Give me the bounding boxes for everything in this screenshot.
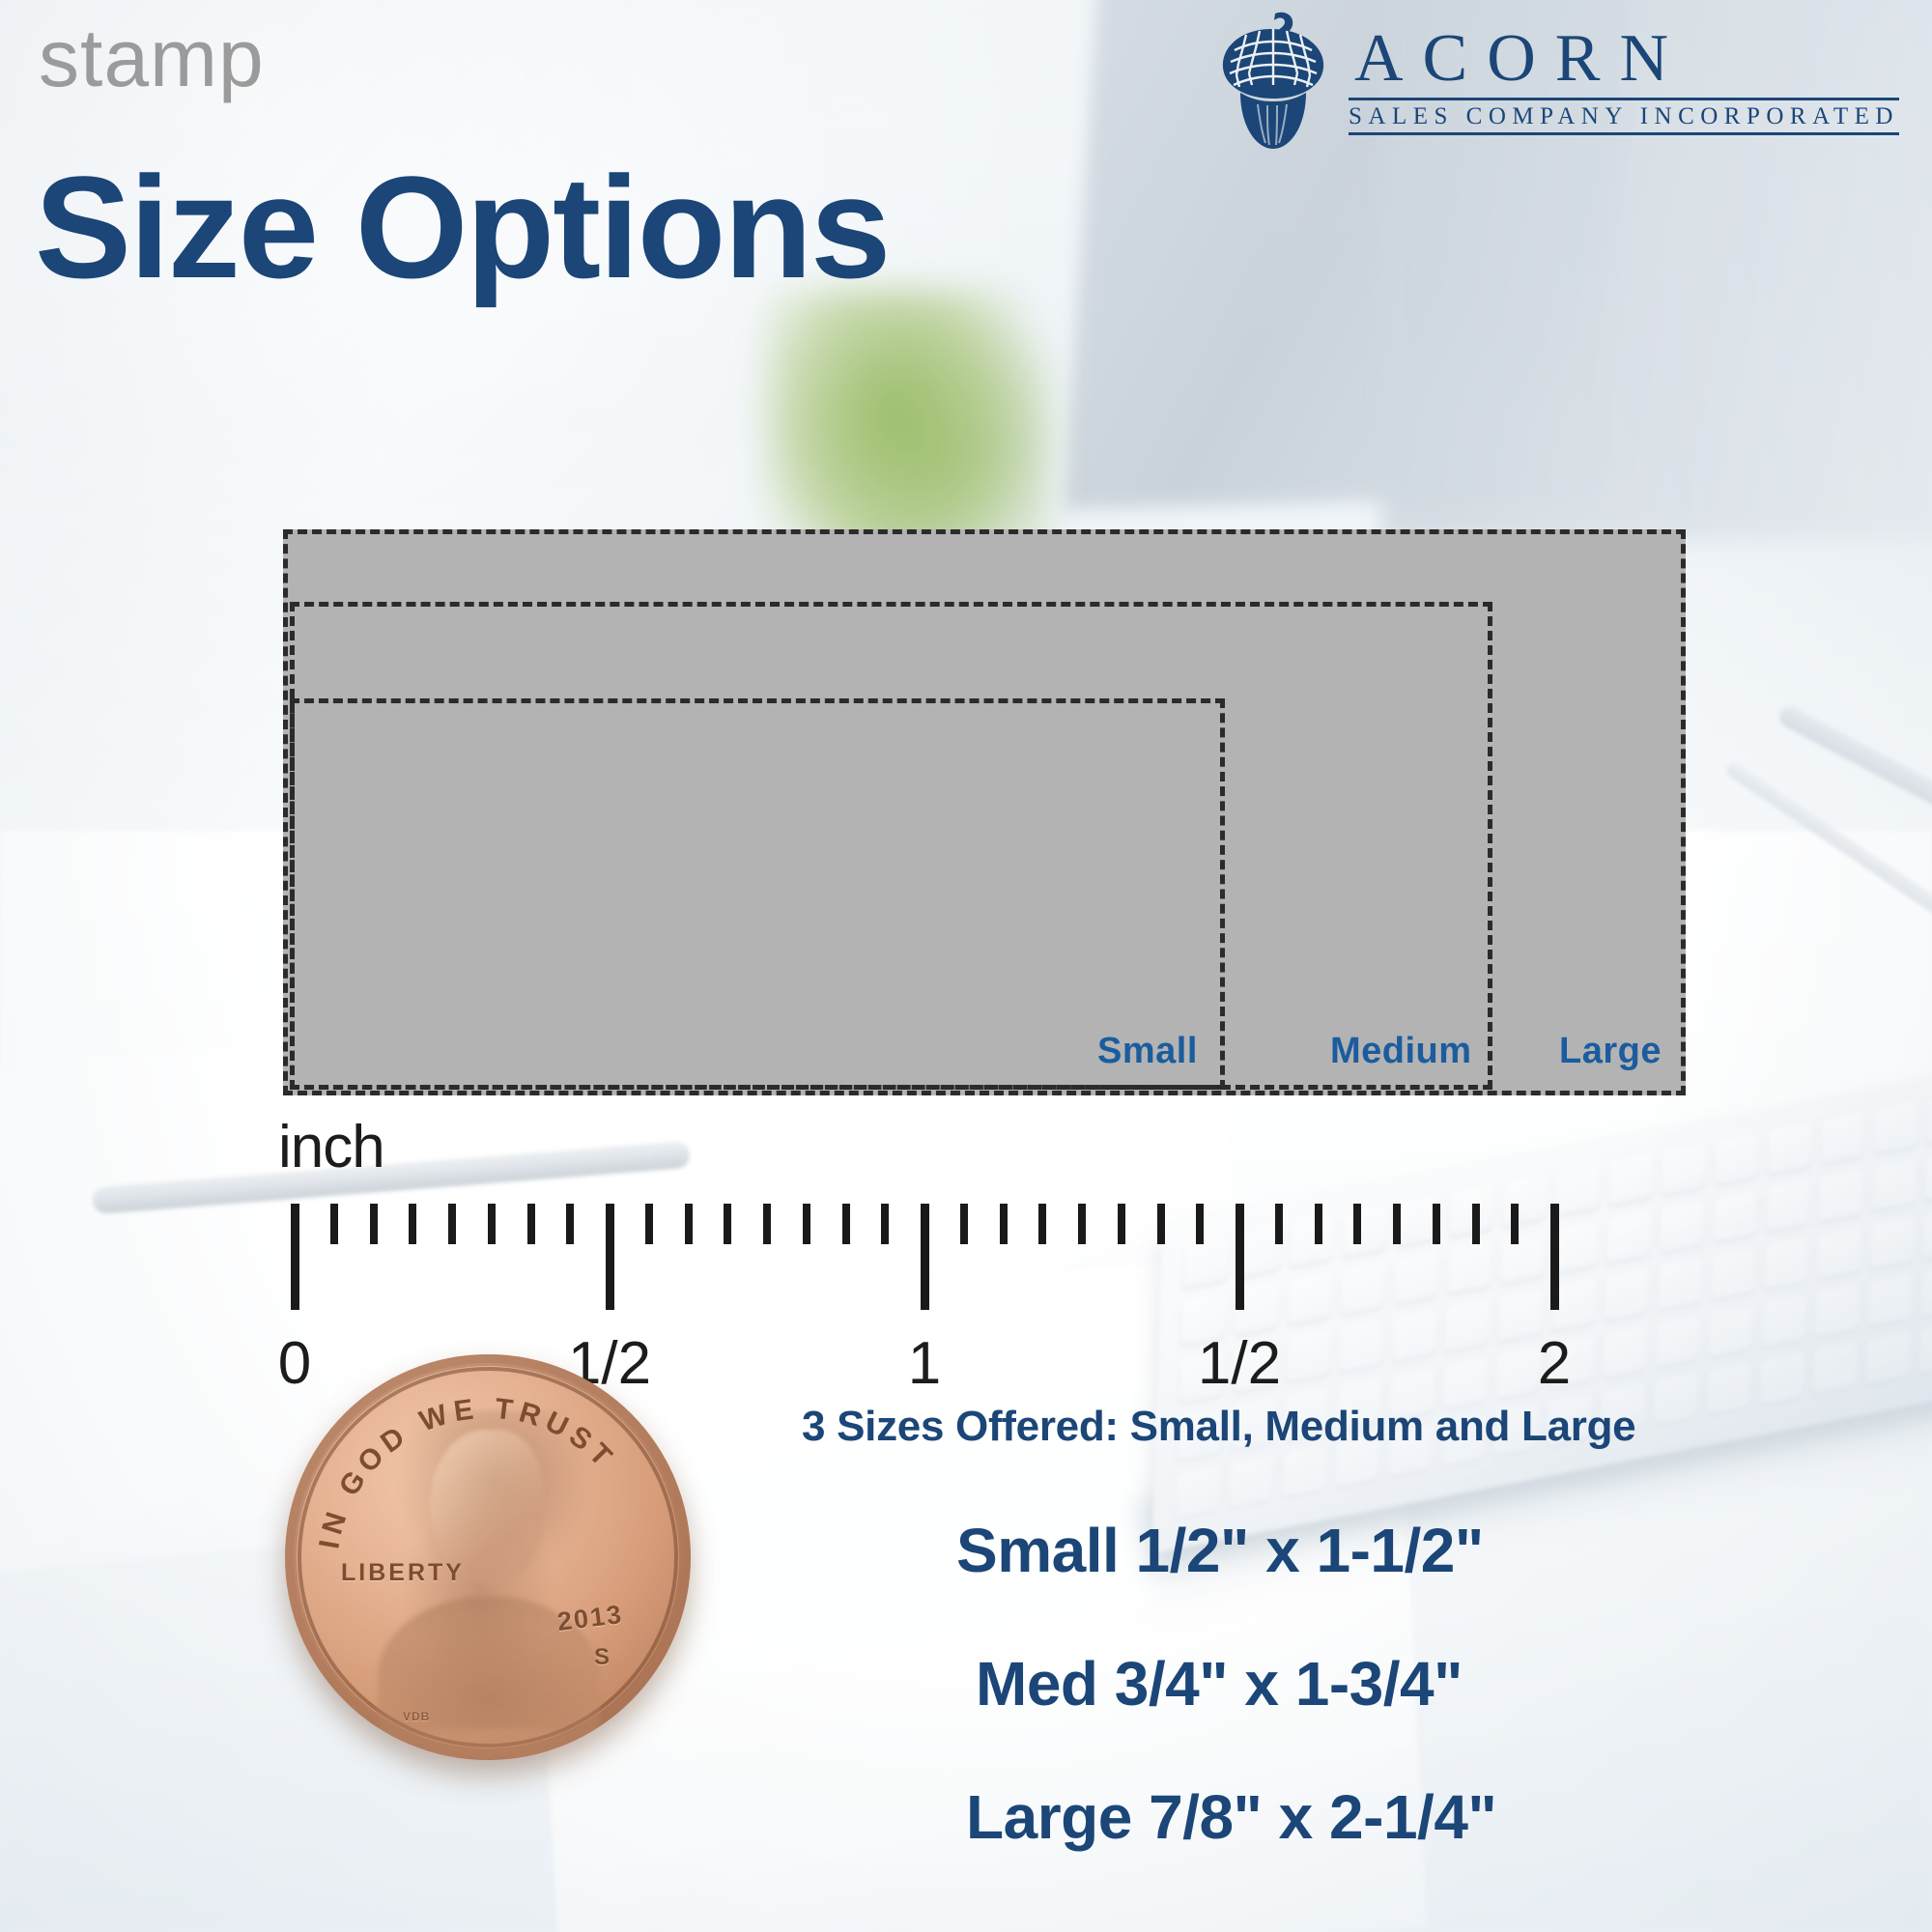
ruler-unit-label: inch bbox=[278, 1113, 384, 1181]
coin-mint-mark: S bbox=[594, 1644, 610, 1671]
coin-designer-initials: VDB bbox=[403, 1710, 430, 1723]
ruler-tick-minor bbox=[370, 1204, 378, 1244]
ruler-tick-minor bbox=[1275, 1204, 1283, 1244]
ruler-number: 1 bbox=[908, 1334, 941, 1394]
ruler-tick-major bbox=[921, 1204, 929, 1310]
specs-heading: 3 Sizes Offered: Small, Medium and Large bbox=[802, 1403, 1913, 1451]
spec-line-small: Small 1/2" x 1-1/2" bbox=[956, 1515, 1913, 1586]
ruler-tick-minor bbox=[1315, 1204, 1322, 1244]
ruler-number: 1/2 bbox=[1198, 1334, 1281, 1394]
ruler-tick-minor bbox=[1472, 1204, 1480, 1244]
ruler-tick-minor bbox=[1353, 1204, 1361, 1244]
ruler-tick-minor bbox=[1393, 1204, 1401, 1244]
penny-coin: IN GOD WE TRUST LIBERTY 2013 S VDB bbox=[285, 1354, 691, 1760]
spec-line-large: Large 7/8" x 2-1/4" bbox=[966, 1781, 1913, 1853]
ruler-tick-minor bbox=[803, 1204, 810, 1244]
ruler-number: 2 bbox=[1538, 1334, 1571, 1394]
spec-line-medium: Med 3/4" x 1-3/4" bbox=[976, 1648, 1913, 1719]
ruler-tick-minor bbox=[1196, 1204, 1204, 1244]
ruler-tick-minor bbox=[488, 1204, 496, 1244]
ruler-tick-minor bbox=[724, 1204, 731, 1244]
ruler-tick-minor bbox=[842, 1204, 850, 1244]
ruler-tick-major bbox=[1550, 1204, 1559, 1310]
ruler-tick-minor bbox=[960, 1204, 968, 1244]
ruler-tick-minor bbox=[409, 1204, 416, 1244]
ruler-tick-minor bbox=[1000, 1204, 1008, 1244]
ruler-tick-minor bbox=[1157, 1204, 1165, 1244]
ruler-tick-minor bbox=[763, 1204, 771, 1244]
size-box-small bbox=[290, 698, 1225, 1090]
ruler-tick-minor bbox=[1118, 1204, 1125, 1244]
size-specifications: 3 Sizes Offered: Small, Medium and Large… bbox=[802, 1403, 1913, 1853]
ruler-tick-minor bbox=[448, 1204, 456, 1244]
coin-liberty-text: LIBERTY bbox=[341, 1559, 465, 1587]
ruler-tick-minor bbox=[1511, 1204, 1519, 1244]
ruler-tick-minor bbox=[1078, 1204, 1086, 1244]
svg-text:IN GOD WE TRUST: IN GOD WE TRUST bbox=[313, 1393, 621, 1551]
coin-motto-arc: IN GOD WE TRUST bbox=[285, 1354, 691, 1760]
ruler-tick-minor bbox=[330, 1204, 338, 1244]
ruler-tick-minor bbox=[685, 1204, 693, 1244]
ruler-tick-minor bbox=[881, 1204, 889, 1244]
ruler-tick-minor bbox=[527, 1204, 535, 1244]
ruler-tick-minor bbox=[1433, 1204, 1440, 1244]
ruler-tick-minor bbox=[1038, 1204, 1046, 1244]
ruler-tick-major bbox=[606, 1204, 614, 1310]
ruler-tick-major bbox=[1236, 1204, 1244, 1310]
ruler-tick-minor bbox=[566, 1204, 574, 1244]
ruler-tick-major bbox=[291, 1204, 299, 1310]
ruler-tick-minor bbox=[645, 1204, 653, 1244]
